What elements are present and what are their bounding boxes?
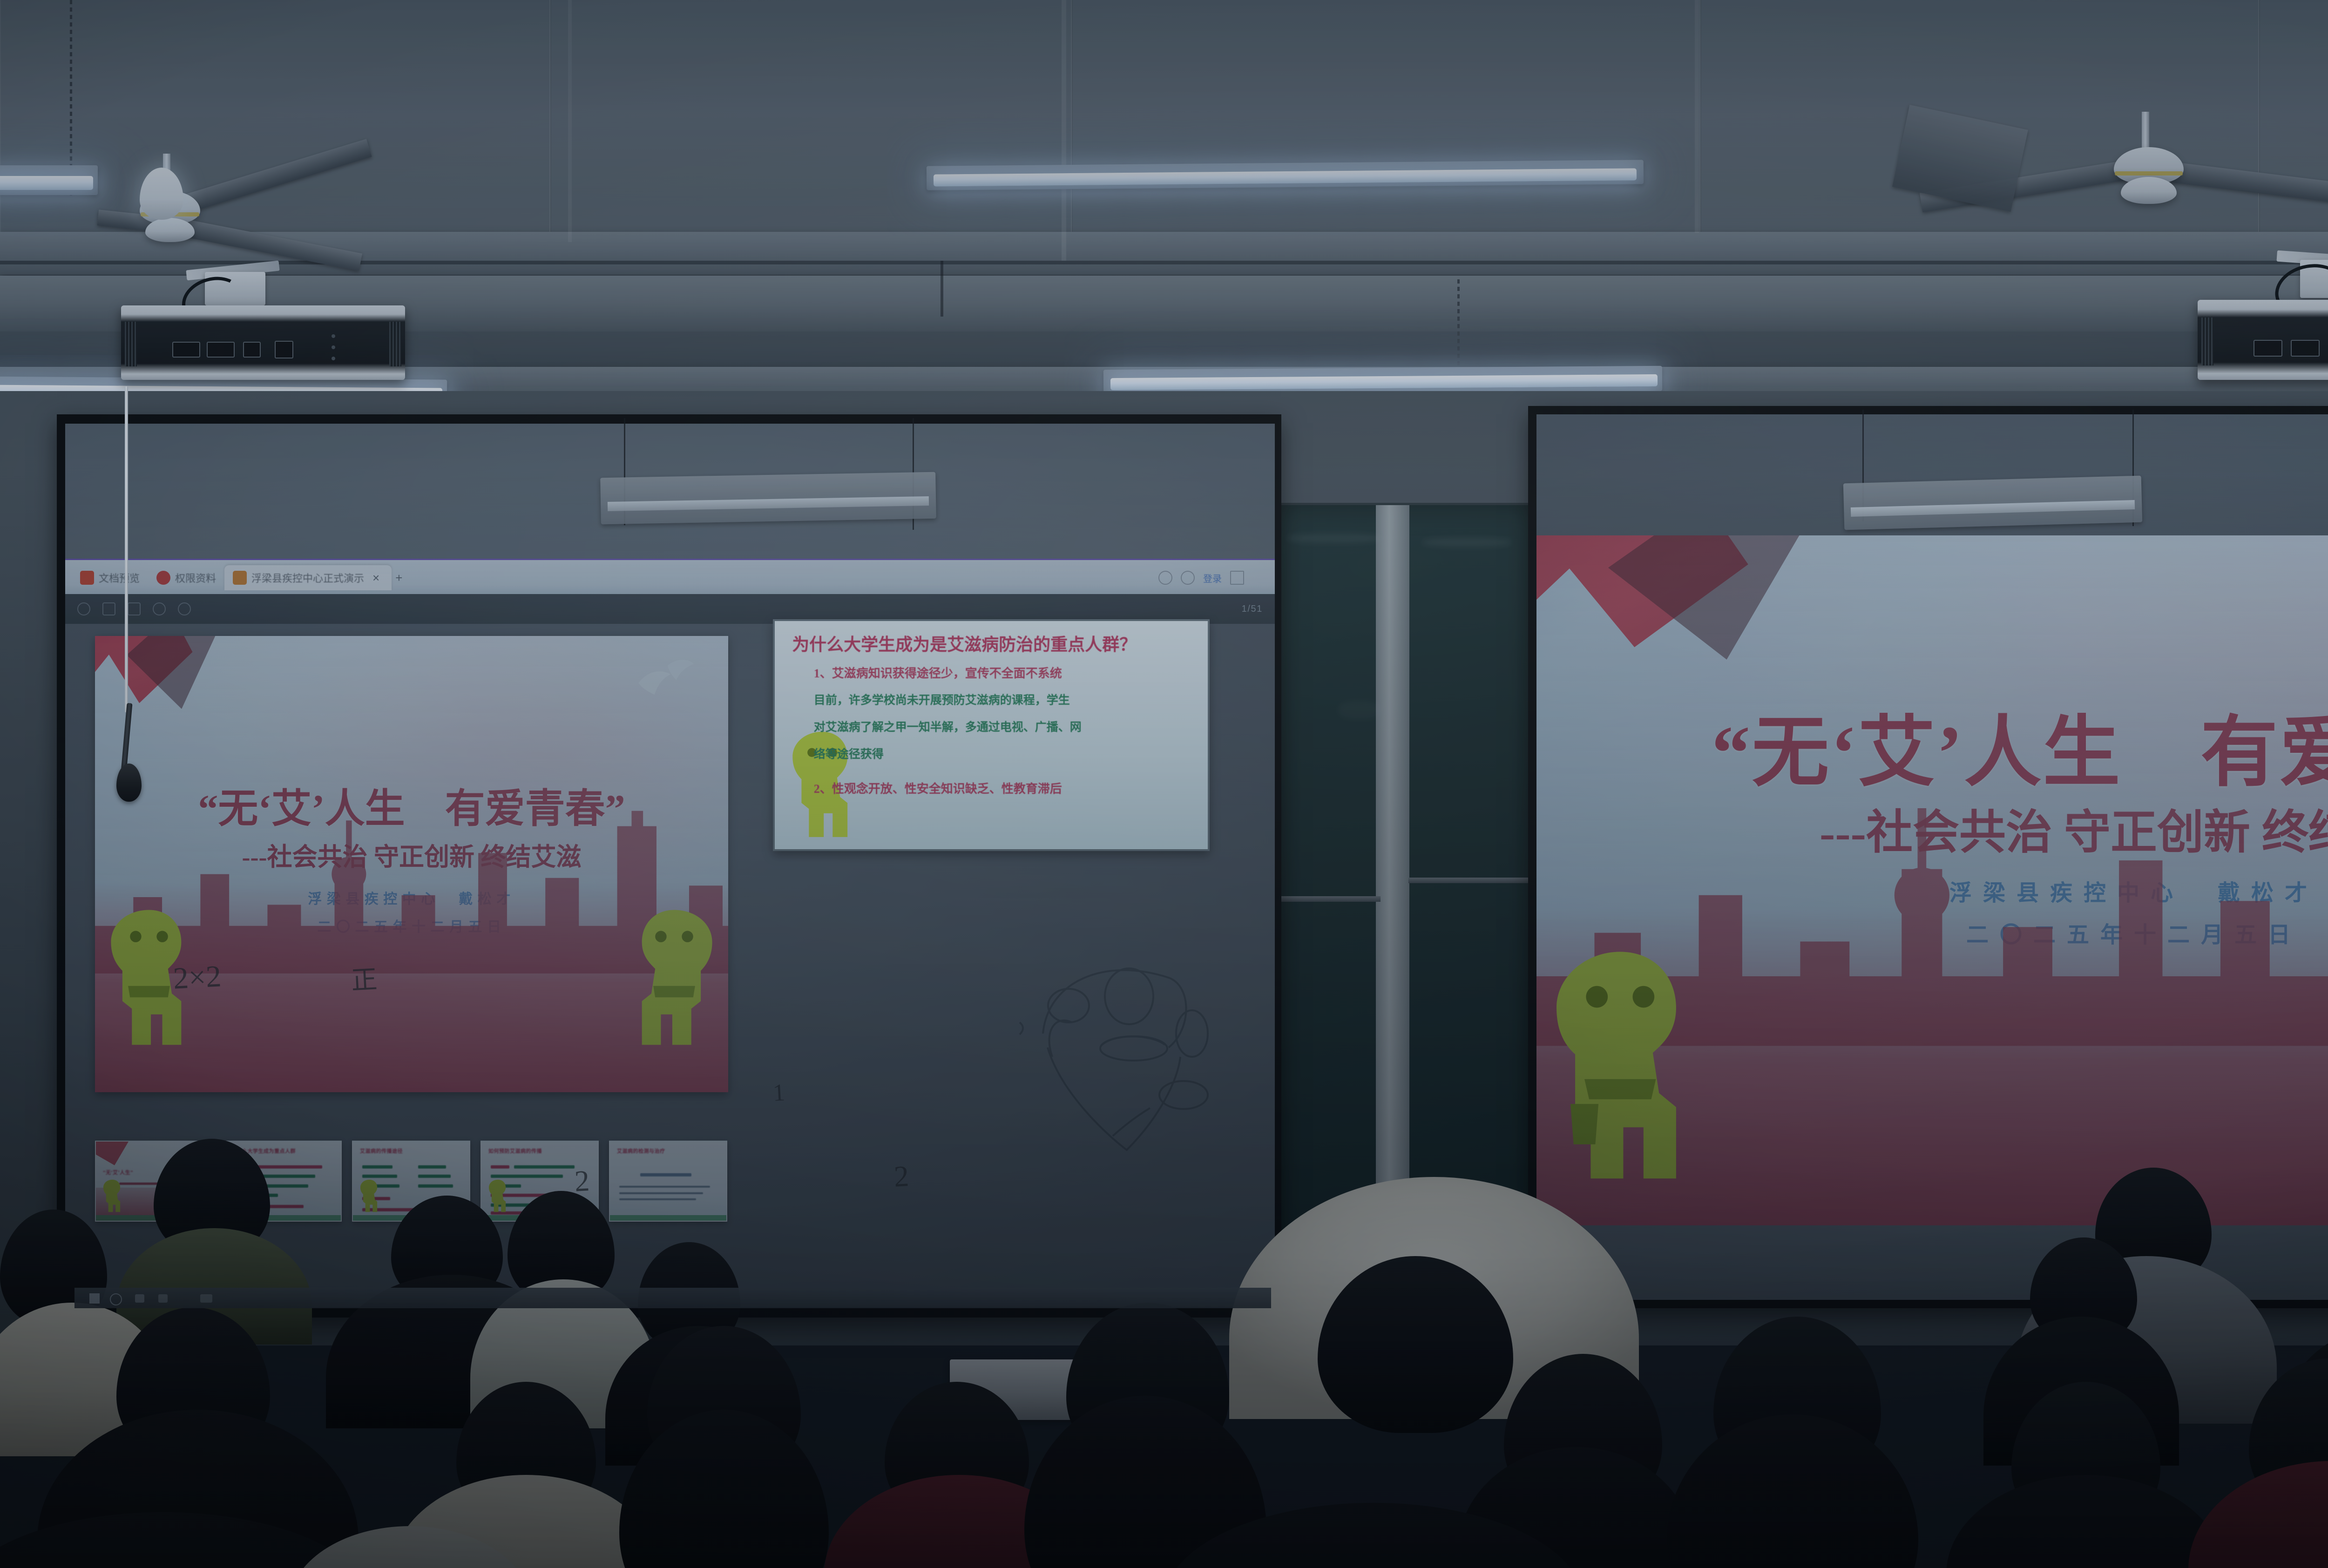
classroom-scene: 文档预览 权限资料 浮梁县疾控中心正式演示 × + 登录 <box>0 0 2328 1568</box>
chapters-icon[interactable] <box>128 602 141 615</box>
pause-icon[interactable] <box>102 602 115 615</box>
projector-left <box>112 265 410 391</box>
tab-label: 浮梁县疾控中心正式演示 <box>251 570 364 585</box>
tab-label: 文档预览 <box>99 570 140 585</box>
tab-favicon <box>156 571 170 585</box>
slide-counter: 1/51 <box>1242 604 1263 615</box>
new-tab-icon[interactable]: + <box>392 571 406 585</box>
minimize-icon[interactable] <box>1230 571 1244 585</box>
ceiling-light-tube <box>0 176 93 190</box>
audience-hair <box>1667 1414 1918 1568</box>
browser-tab-strip: 文档预览 权限资料 浮梁县疾控中心正式演示 × + 登录 <box>65 559 1275 597</box>
browser-tab-active[interactable]: 浮梁县疾控中心正式演示 × <box>224 565 392 591</box>
refresh-icon[interactable] <box>153 602 166 615</box>
ceiling-fan <box>1760 112 2328 261</box>
dove-icon <box>621 649 703 723</box>
audience <box>0 1056 2328 1568</box>
ceiling-fan <box>88 154 433 270</box>
microphone-wire <box>125 386 128 712</box>
active-slide-canvas[interactable]: “无‘艾’人生 有爱青春” ---社会共治 守正创新 终结艾滋 浮梁县疾控中心 … <box>95 636 728 1092</box>
settings-icon[interactable] <box>178 602 191 615</box>
slide-preview-panel[interactable]: 为什么大学生成为是艾滋病防治的重点人群？ 1、艾滋病知识获得途径少，宣传不全面不… <box>773 619 1210 851</box>
account-icon[interactable] <box>1181 571 1195 585</box>
preview-line: 2、性观念开放、性安全知识缺乏、性教育滞后 <box>814 779 1195 797</box>
tab-favicon <box>233 571 247 585</box>
preview-line: 1、艾滋病知识获得途径少，宣传不全面不系统 <box>814 664 1195 681</box>
handwriting-mark: 2×2 <box>172 959 222 996</box>
tabstrip-actions: 登录 <box>1158 571 1275 585</box>
history-icon[interactable] <box>1158 571 1172 585</box>
preview-line: 对艾滋病了解之甲一知半解，多通过电视、广播、网 <box>814 718 1195 735</box>
preview-line: 目前，许多学校尚未开展预防艾滋病的课程，学生 <box>814 691 1195 708</box>
projector-right <box>2184 251 2328 391</box>
preview-line: 络等途径获得 <box>814 745 1195 762</box>
tab-close-icon[interactable]: × <box>369 571 383 585</box>
play-icon[interactable] <box>77 602 90 615</box>
preview-title: 为什么大学生成为是艾滋病防治的重点人群？ <box>792 630 1195 656</box>
signin-label[interactable]: 登录 <box>1203 571 1222 585</box>
handwriting-mark: 正 <box>350 959 378 998</box>
browser-tab[interactable]: 文档预览 <box>72 565 148 591</box>
tab-label: 权限资料 <box>175 570 216 585</box>
browser-tab[interactable]: 权限资料 <box>148 565 224 591</box>
audience-shoulders <box>1946 1475 2226 1568</box>
close-window-icon[interactable] <box>1252 572 1265 584</box>
guardian-lion-icon <box>627 873 722 1083</box>
tab-favicon <box>80 571 94 585</box>
audience-shoulders <box>2188 1461 2328 1568</box>
